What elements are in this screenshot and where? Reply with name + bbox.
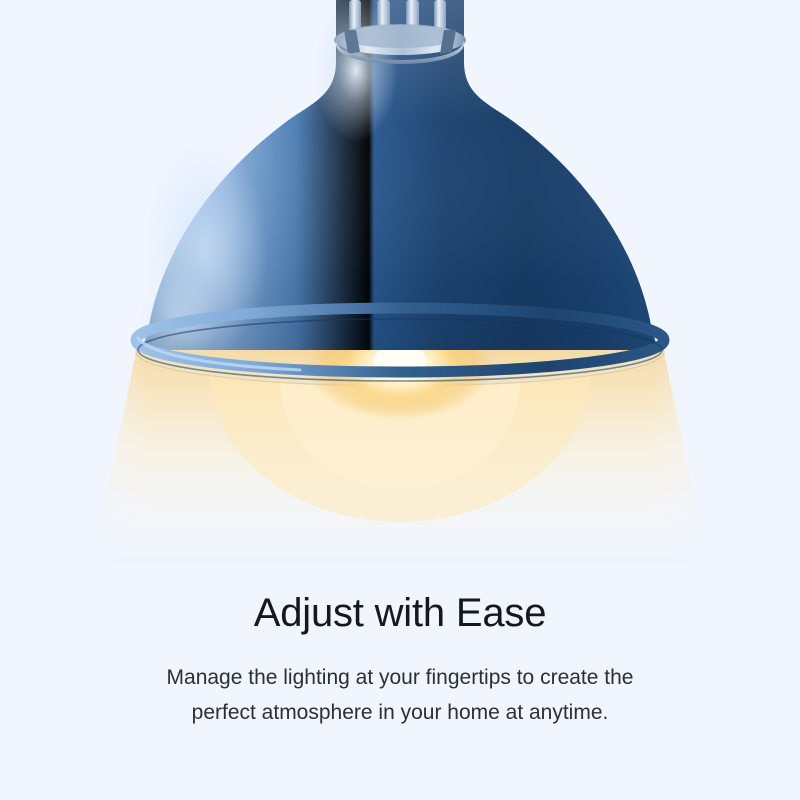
body-text-line-2: perfect atmosphere in your home at anyti… — [0, 695, 800, 730]
page-title: Adjust with Ease — [0, 586, 800, 640]
product-feature-card: Adjust with Ease Manage the lighting at … — [0, 0, 800, 800]
body-text-line-1: Manage the lighting at your fingertips t… — [0, 660, 800, 695]
pendant-lamp-illustration — [0, 0, 800, 600]
copy-block: Adjust with Ease Manage the lighting at … — [0, 586, 800, 730]
body-text: Manage the lighting at your fingertips t… — [0, 660, 800, 730]
